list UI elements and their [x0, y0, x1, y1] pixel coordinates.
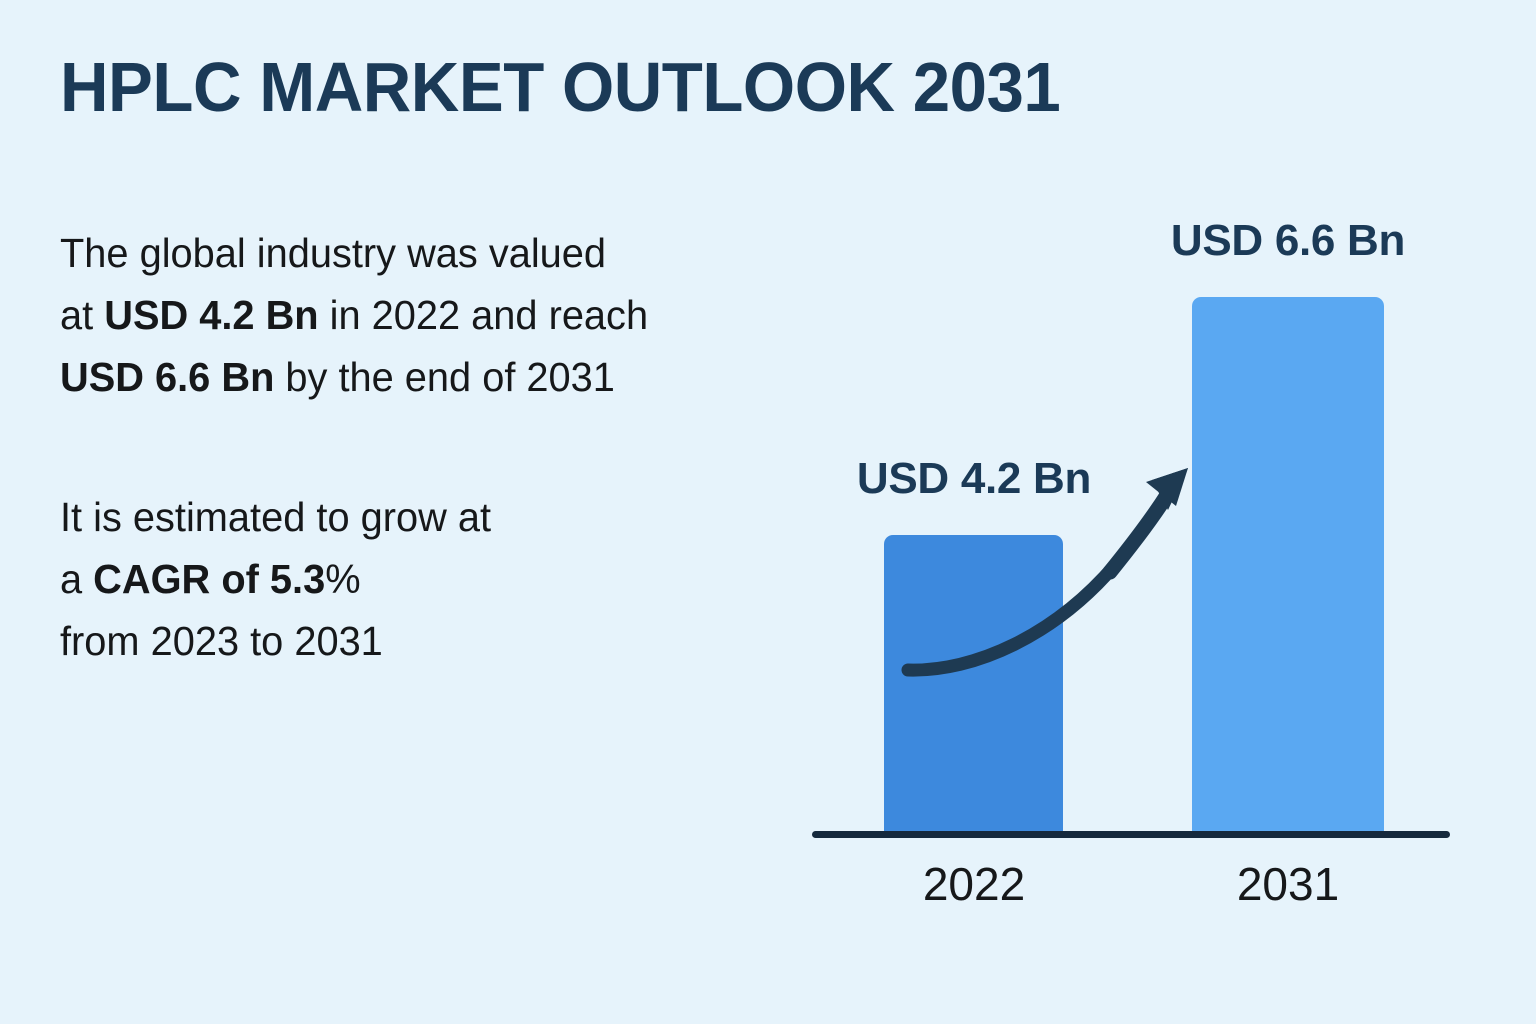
paragraph-1-line-2-suffix: in 2022 and reach [319, 292, 648, 338]
paragraph-2-line-3: from 2023 to 2031 [60, 610, 797, 672]
paragraph-1-line-2-prefix: at [60, 292, 104, 338]
paragraph-1-line-3: USD 6.6 Bn by the end of 2031 [60, 346, 797, 408]
bar-value-label-2022: USD 4.2 Bn [844, 454, 1104, 504]
bar-2031 [1192, 297, 1384, 834]
paragraph-1-line-1: The global industry was valued [60, 222, 797, 284]
category-label-2031: 2031 [1158, 858, 1418, 910]
cagr-percent-sign: % [325, 556, 360, 602]
paragraph-2-line-2: a CAGR of 5.3% [60, 548, 797, 610]
infographic-canvas: HPLC MARKET OUTLOOK 2031 The global indu… [0, 0, 1536, 1024]
paragraph-1-line-1-text: The global industry was valued [60, 230, 606, 276]
cagr-value: CAGR of 5.3 [93, 556, 325, 602]
paragraph-2-line-2-prefix: a [60, 556, 93, 602]
bar-chart: USD 4.2 Bn USD 6.6 Bn 2022 2031 [790, 180, 1480, 940]
chart-baseline-axis [812, 831, 1450, 838]
value-2022-inline: USD 4.2 Bn [104, 292, 318, 338]
paragraph-1-line-3-suffix: by the end of 2031 [274, 354, 615, 400]
summary-paragraph-1: The global industry was valued at USD 4.… [60, 222, 797, 408]
category-label-2022: 2022 [844, 858, 1104, 910]
paragraph-1-line-2: at USD 4.2 Bn in 2022 and reach [60, 284, 797, 346]
page-title: HPLC MARKET OUTLOOK 2031 [60, 48, 1060, 126]
summary-paragraph-2: It is estimated to grow at a CAGR of 5.3… [60, 486, 797, 672]
bar-2022 [884, 535, 1063, 834]
paragraph-2-line-1: It is estimated to grow at [60, 486, 797, 548]
paragraph-2-line-1-text: It is estimated to grow at [60, 494, 491, 540]
value-2031-inline: USD 6.6 Bn [60, 354, 274, 400]
bar-value-label-2031: USD 6.6 Bn [1158, 216, 1418, 266]
paragraph-2-line-3-text: from 2023 to 2031 [60, 618, 383, 664]
